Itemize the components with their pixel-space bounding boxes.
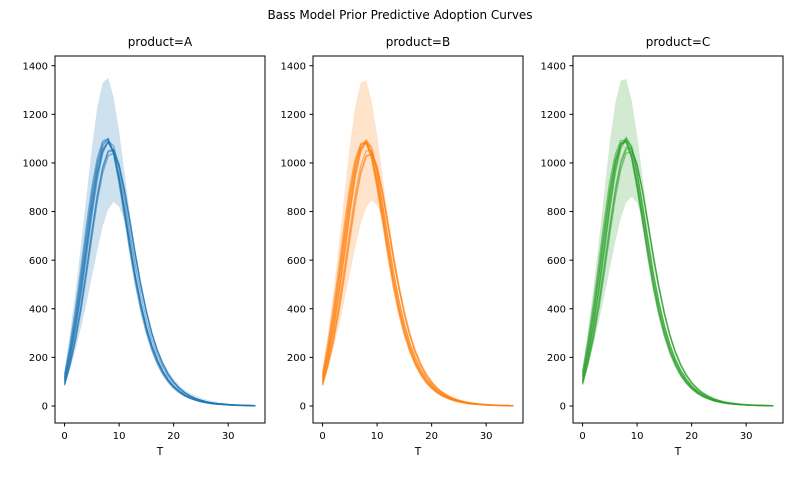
x-tick-label: 10: [371, 431, 384, 442]
y-tick-label: 1400: [541, 61, 566, 72]
x-tick-label: 0: [319, 431, 325, 442]
y-tick-label: 1000: [23, 159, 48, 170]
x-tick-label: 0: [61, 431, 67, 442]
y-tick-label: 200: [547, 353, 566, 364]
x-tick-label: 10: [631, 431, 644, 442]
y-tick-label: 1400: [23, 61, 48, 72]
y-tick-label: 0: [300, 402, 306, 413]
y-tick-label: 1200: [23, 110, 48, 121]
x-tick-label: 20: [425, 431, 438, 442]
x-tick-label: 20: [167, 431, 180, 442]
y-tick-label: 600: [29, 256, 48, 267]
x-tick-label: 30: [222, 431, 235, 442]
x-tick-label: 20: [685, 431, 698, 442]
y-tick-label: 600: [287, 256, 306, 267]
y-tick-label: 1200: [281, 110, 306, 121]
y-tick-label: 400: [287, 304, 306, 315]
plot-area: 02004006008001000120014000102030: [3, 54, 273, 467]
subplot-product-b: product=B0200400600800100012001400010203…: [313, 56, 523, 423]
plot-area: 02004006008001000120014000102030: [521, 54, 791, 467]
subplot-product-a: product=A0200400600800100012001400010203…: [55, 56, 265, 423]
y-tick-label: 800: [287, 207, 306, 218]
y-tick-label: 400: [29, 304, 48, 315]
y-tick-label: 1200: [541, 110, 566, 121]
figure-canvas: Bass Model Prior Predictive Adoption Cur…: [0, 0, 800, 480]
figure-suptitle: Bass Model Prior Predictive Adoption Cur…: [0, 8, 800, 22]
subplot-product-c: product=C0200400600800100012001400010203…: [573, 56, 783, 423]
y-tick-label: 1400: [281, 61, 306, 72]
y-tick-label: 200: [287, 353, 306, 364]
y-tick-label: 200: [29, 353, 48, 364]
plot-area: 02004006008001000120014000102030: [261, 54, 531, 467]
y-tick-label: 0: [42, 402, 48, 413]
x-tick-label: 10: [113, 431, 126, 442]
y-tick-label: 800: [547, 207, 566, 218]
y-tick-label: 600: [547, 256, 566, 267]
x-tick-label: 30: [480, 431, 493, 442]
y-tick-label: 400: [547, 304, 566, 315]
x-tick-label: 0: [579, 431, 585, 442]
subplot-title: product=A: [55, 35, 265, 49]
y-tick-label: 1000: [541, 159, 566, 170]
subplot-title: product=C: [573, 35, 783, 49]
y-tick-label: 1000: [281, 159, 306, 170]
x-tick-label: 30: [740, 431, 753, 442]
x-axis-label: T: [313, 446, 523, 458]
y-tick-label: 800: [29, 207, 48, 218]
y-tick-label: 0: [560, 402, 566, 413]
x-axis-label: T: [55, 446, 265, 458]
x-axis-label: T: [573, 446, 783, 458]
subplot-title: product=B: [313, 35, 523, 49]
